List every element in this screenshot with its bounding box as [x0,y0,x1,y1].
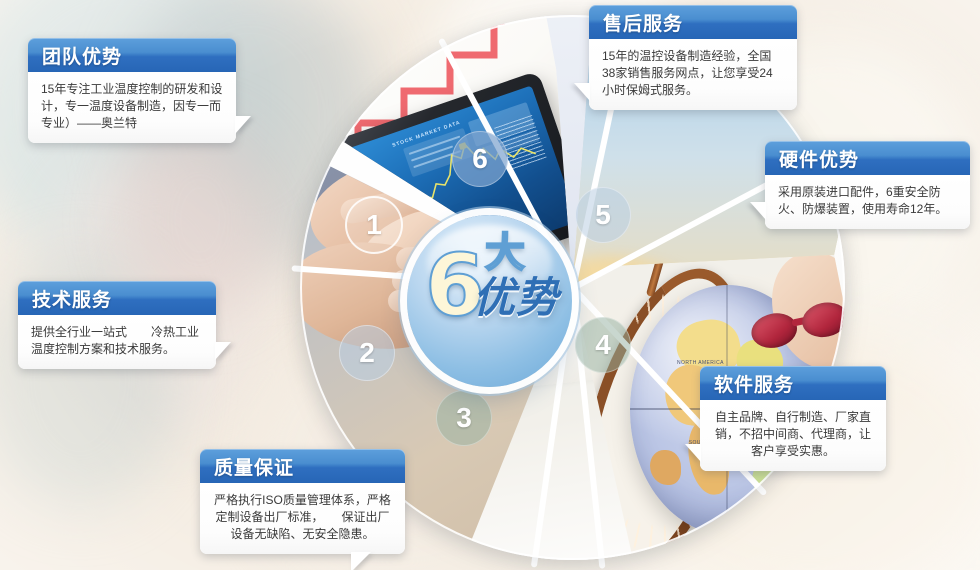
segment-number-6[interactable]: 6 [452,131,508,187]
card-title: 质量保证 [214,453,294,480]
callout-card-tech-service[interactable]: 技术服务 提供全行业一站式 冷热工业温度控制方案和技术服务。 [18,281,216,369]
card-title: 售后服务 [603,9,683,36]
segment-number-4[interactable]: 4 [575,317,631,373]
card-body: 15年的温控设备制造经验，全国38家销售服务网点，让您享受24小时保姆式服务。 [589,39,797,110]
card-title: 技术服务 [32,285,112,312]
badge-sub-word: 优势 [473,277,559,319]
callout-card-team[interactable]: 团队优势 15年专注工业温度控制的研发和设计，专一温度设备制造，因专一而专业）—… [28,38,236,143]
callout-tail [750,202,766,220]
card-header: 硬件优势 [765,141,970,175]
card-body: 采用原装进口配件，6重安全防火、防爆装置，使用寿命12年。 [765,175,970,229]
card-body: 提供全行业一站式 冷热工业温度控制方案和技术服务。 [18,315,216,369]
callout-tail [215,342,231,360]
card-header: 售后服务 [589,5,797,39]
card-body: 15年专注工业温度控制的研发和设计，专一温度设备制造，因专一而专业）——奥兰特 [28,72,236,143]
center-badge[interactable]: 6 大 优势 [407,215,572,387]
segment-number-1[interactable]: 1 [345,196,403,254]
card-title: 软件服务 [714,370,794,397]
card-header: 质量保证 [200,449,405,483]
segment-number-5[interactable]: 5 [575,187,631,243]
callout-tail [685,444,701,462]
callout-card-quality[interactable]: 质量保证 严格执行ISO质量管理体系，严格定制设备出厂标准， 保证出厂设备无缺陷… [200,449,405,554]
callout-tail [574,83,590,101]
card-header: 技术服务 [18,281,216,315]
card-body: 严格执行ISO质量管理体系，严格定制设备出厂标准， 保证出厂设备无缺陷、无安全隐… [200,483,405,554]
badge-big-word: 大 [485,233,525,273]
card-body: 自主品牌、自行制造、厂家直销，不招中间商、代理商，让客户享受实惠。 [700,400,886,471]
card-title: 硬件优势 [779,145,859,172]
card-header: 团队优势 [28,38,236,72]
callout-card-after-sales[interactable]: 售后服务 15年的温控设备制造经验，全国38家销售服务网点，让您享受24小时保姆… [589,5,797,110]
card-header: 软件服务 [700,366,886,400]
poster-canvas: STOCK MARKET DATA iNTC 440.95 +2.14 (0.4… [0,0,980,570]
segment-number-2[interactable]: 2 [339,325,395,381]
card-title: 团队优势 [42,42,122,69]
callout-card-software-service[interactable]: 软件服务 自主品牌、自行制造、厂家直销，不招中间商、代理商，让客户享受实惠。 [700,366,886,471]
callout-card-hardware[interactable]: 硬件优势 采用原装进口配件，6重安全防火、防爆装置，使用寿命12年。 [765,141,970,229]
callout-tail [235,116,251,134]
callout-tail [351,552,371,570]
segment-number-3[interactable]: 3 [436,390,492,446]
